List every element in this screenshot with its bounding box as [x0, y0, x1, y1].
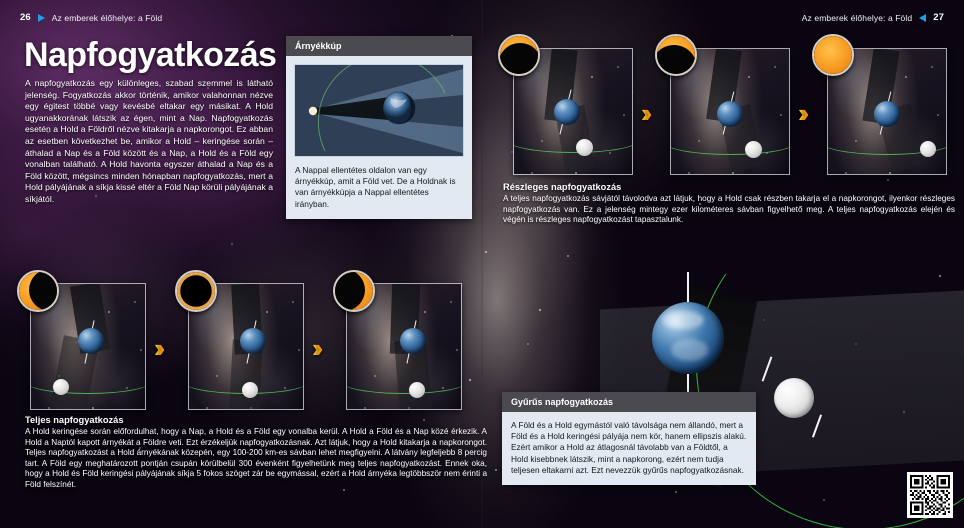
moon-globe [242, 382, 258, 398]
earth-globe [78, 328, 104, 354]
moon-globe [53, 379, 69, 395]
chevron-right-icon: › [801, 100, 804, 126]
sun-phase-thumbnail-partial-2 [655, 34, 697, 76]
sequence-arrow-1: ›› [641, 100, 646, 126]
qr-code[interactable] [907, 472, 953, 518]
info-box-arnyekkup: Árnyékkúp [286, 36, 472, 219]
section-reszleges: Részleges napfogyatkozás A teljes napfog… [503, 182, 955, 226]
triangle-left-icon [919, 14, 926, 22]
earth-globe [240, 328, 266, 354]
qr-code-svg [910, 475, 950, 515]
moon-orbit-line [670, 129, 790, 155]
chevron-right-icon: › [644, 100, 647, 126]
sequence-arrow-3: ›› [154, 335, 159, 361]
section-teljes-heading: Teljes napfogyatkozás [25, 415, 487, 425]
textbook-spread: 26 Az emberek élőhelye: a Föld Az embere… [0, 0, 964, 528]
page-title: Napfogyatkozás [24, 38, 276, 72]
moon-occluder [498, 43, 540, 76]
sun-phase-thumbnail-total-2 [175, 270, 217, 312]
moon-orbit-line [513, 127, 633, 153]
info-box-gyurus-header: Gyűrűs napfogyatkozás [502, 392, 756, 412]
earth-globe [400, 328, 426, 354]
section-reszleges-body: A teljes napfogyatkozás sávjától távolod… [503, 194, 955, 226]
info-box-arnyekkup-figure-wrap [286, 56, 472, 157]
moon-orbit-line [346, 368, 462, 394]
running-head-right: Az emberek élőhelye: a Föld 27 [802, 12, 944, 23]
moon-globe [576, 139, 593, 156]
triangle-right-icon [38, 14, 45, 22]
sun-phase-thumbnail-partial-3 [812, 34, 854, 76]
section-teljes: Teljes napfogyatkozás A Hold keringése s… [25, 415, 487, 491]
moon-globe-large [774, 378, 814, 418]
shadow-cone-svg [295, 65, 463, 156]
sequence-arrow-2: ›› [798, 100, 803, 126]
info-box-gyurus: Gyűrűs napfogyatkozás A Föld és a Hold e… [502, 392, 756, 485]
info-box-gyurus-body: A Föld és a Hold egymástól való távolság… [502, 412, 756, 485]
page-number-left: 26 [20, 12, 31, 23]
section-teljes-body: A Hold keringése során előfordulhat, hog… [25, 427, 487, 491]
sun-phase-thumbnail-partial-1 [498, 34, 540, 76]
earth-globe [554, 99, 580, 125]
moon-globe [920, 141, 936, 157]
moon-orbit-line [30, 368, 146, 394]
chevron-right-icon: › [157, 335, 160, 361]
info-box-arnyekkup-body: A Nappal ellentétes oldalon van egy árny… [286, 157, 472, 219]
intro-paragraph: A napfogyatkozás egy különleges, szabad … [25, 78, 273, 206]
info-box-arnyekkup-header: Árnyékkúp [286, 36, 472, 56]
earth-globe [717, 101, 743, 127]
sun-phase-thumbnail-total-3 [333, 270, 375, 312]
shadow-cone-illustration [294, 64, 464, 157]
running-head-left-label: Az emberek élőhelye: a Föld [52, 13, 162, 23]
moon-globe [745, 141, 762, 158]
chevron-right-icon: › [315, 335, 318, 361]
moon-globe [409, 382, 425, 398]
section-reszleges-heading: Részleges napfogyatkozás [503, 182, 955, 192]
running-head-left: 26 Az emberek élőhelye: a Föld [20, 12, 162, 23]
sun-disc [814, 36, 852, 74]
sun-phase-thumbnail-total-1 [17, 270, 59, 312]
sequence-arrow-4: ›› [312, 335, 317, 361]
page-number-right: 27 [933, 12, 944, 23]
earth-globe-large [652, 302, 724, 374]
corona-ring [177, 272, 215, 310]
running-head-right-label: Az emberek élőhelye: a Föld [802, 13, 912, 23]
earth-globe [874, 101, 900, 127]
